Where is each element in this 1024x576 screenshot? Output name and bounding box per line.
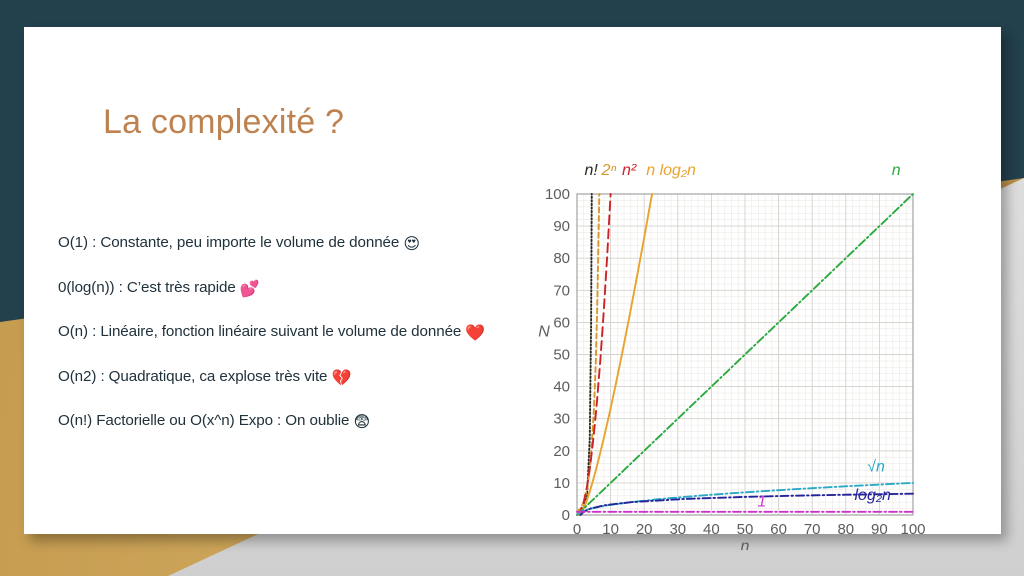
bullet-text: O(1) : Constante, peu importe le volume …	[58, 234, 403, 251]
x-axis-label: n	[741, 538, 750, 550]
curve-label-n: n	[892, 164, 901, 179]
curve-label-1: 1	[757, 494, 766, 511]
bullet-text: O(n2) : Quadratique, ca explose très vit…	[58, 368, 332, 385]
list-item: O(n!) Factorielle ou O(x^n) Expo : On ou…	[58, 410, 528, 434]
y-tick-label: 50	[553, 347, 570, 364]
y-tick-label: 10	[553, 475, 570, 492]
curve-label-n-log2-n: n log₂n	[646, 164, 696, 179]
x-tick-label: 0	[573, 521, 581, 538]
complexity-chart: 0102030405060708090100010203040506070809…	[536, 164, 932, 550]
list-item: O(n) : Linéaire, fonction linéaire suiva…	[58, 321, 528, 345]
bullet-text: 0(log(n)) : C’est très rapide	[58, 279, 240, 296]
list-item: 0(log(n)) : C’est très rapide 💕	[58, 277, 528, 301]
page-title: La complexité ?	[103, 103, 344, 142]
bullet-list: O(1) : Constante, peu importe le volume …	[58, 232, 528, 434]
y-tick-label: 20	[553, 443, 570, 460]
x-tick-label: 70	[804, 521, 821, 538]
x-tick-label: 10	[602, 521, 619, 538]
smiling-face-with-hearts-emoji: 😍	[403, 234, 420, 253]
x-tick-label: 80	[837, 521, 854, 538]
x-tick-label: 40	[703, 521, 720, 538]
x-tick-label: 30	[669, 521, 686, 538]
y-axis-label: N	[538, 324, 550, 341]
y-tick-label: 90	[553, 218, 570, 235]
y-tick-label: 0	[562, 507, 570, 524]
red-heart-emoji: ❤️	[465, 323, 485, 342]
list-item: O(n2) : Quadratique, ca explose très vit…	[58, 366, 528, 390]
curve-label-log2-n: log₂n	[855, 487, 891, 504]
broken-heart-emoji: 💔	[332, 368, 352, 387]
y-tick-label: 70	[553, 282, 570, 299]
slide: La complexité ? O(1) : Constante, peu im…	[0, 0, 1024, 576]
complexity-chart-svg: 0102030405060708090100010203040506070809…	[536, 164, 932, 550]
y-tick-label: 30	[553, 411, 570, 428]
y-tick-label: 60	[553, 314, 570, 331]
two-hearts-emoji: 💕	[240, 279, 260, 298]
curve-labels: n!2ⁿn²n log₂nn√nlog₂n1	[584, 164, 900, 511]
fearful-face-emoji: 😨	[354, 412, 371, 431]
curve-label-n-: n!	[584, 164, 598, 179]
y-tick-label: 80	[553, 250, 570, 267]
curve-label-sqrt-n-: √n	[867, 459, 885, 476]
y-tick-label: 40	[553, 379, 570, 396]
curve-label-n-2: n²	[622, 164, 637, 179]
bullet-text: O(n!) Factorielle ou O(x^n) Expo : On ou…	[58, 412, 354, 429]
x-tick-label: 100	[900, 521, 925, 538]
y-tick-label: 100	[545, 186, 570, 203]
x-tick-label: 50	[737, 521, 754, 538]
x-tick-label: 20	[636, 521, 653, 538]
list-item: O(1) : Constante, peu importe le volume …	[58, 232, 528, 256]
curve-label-2-n: 2ⁿ	[601, 164, 617, 179]
bullet-text: O(n) : Linéaire, fonction linéaire suiva…	[58, 323, 465, 340]
x-tick-label: 90	[871, 521, 888, 538]
x-tick-label: 60	[770, 521, 787, 538]
